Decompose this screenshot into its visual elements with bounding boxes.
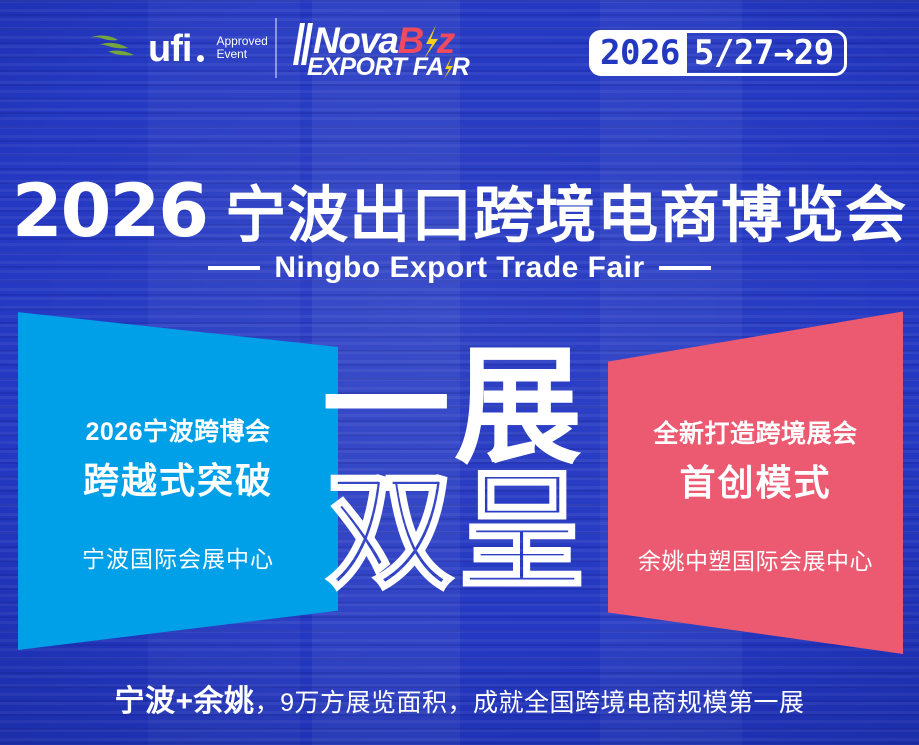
date-badge: 2026 5/27→29 <box>589 30 847 76</box>
title-english: Ningbo Export Trade Fair <box>274 251 644 285</box>
header-divider <box>275 18 277 78</box>
ufi-sub-line2: Event <box>216 47 247 61</box>
right-panel-line2: 首创模式 <box>608 454 903 506</box>
hero-slogan: 一展 双呈 <box>316 344 606 624</box>
main-title: 2026 宁波出口跨境电商博览会 <box>0 178 919 247</box>
title-chinese: 宁波出口跨境电商博览会 <box>225 184 907 246</box>
ufi-swoosh-icon <box>88 32 140 62</box>
novabiz-logo: NovaBz EXPORT FAR <box>293 21 478 83</box>
main-title-block: 2026 宁波出口跨境电商博览会 Ningbo Export Trade Fai… <box>0 178 919 285</box>
ufi-logo: ufi Approved Event <box>88 28 268 66</box>
ufi-wordmark: ufi <box>148 30 191 68</box>
header: ufi Approved Event NovaBz EXPORT FAR 202… <box>0 0 919 100</box>
rule-right <box>659 266 711 270</box>
ufi-approved-event: Approved Event <box>216 35 267 61</box>
poster-root: ufi Approved Event NovaBz EXPORT FAR 202… <box>0 0 919 745</box>
left-panel-line1: 2026宁波跨博会 <box>18 412 338 448</box>
footer-strong: 宁波+余姚 <box>115 685 255 718</box>
novabiz-wordmark-row2: EXPORT FAR <box>307 55 469 80</box>
novabiz-export-fa: EXPORT FA <box>307 53 444 81</box>
title-year: 2026 <box>12 178 207 247</box>
date-range: 5/27→29 <box>687 33 844 73</box>
venue-panel-yuyao: 全新打造跨境展会 首创模式 余姚中塑国际会展中心 <box>608 308 903 654</box>
hero-line-outline: 双呈 <box>326 469 590 597</box>
ufi-dot-icon <box>197 55 204 62</box>
rule-left <box>208 266 260 270</box>
date-year: 2026 <box>592 33 687 73</box>
right-panel-venue: 余姚中塑国际会展中心 <box>608 542 903 576</box>
venue-panel-ningbo: 2026宁波跨博会 跨越式突破 宁波国际会展中心 <box>18 308 338 650</box>
right-panel-line1: 全新打造跨境展会 <box>608 414 903 450</box>
hero-line-solid: 一展 <box>322 344 586 472</box>
left-panel-line2: 跨越式突破 <box>18 452 338 504</box>
left-panel-venue: 宁波国际会展中心 <box>18 540 338 574</box>
ufi-sub-line1: Approved <box>216 34 267 48</box>
footer-tagline: 宁波+余姚，9万方展览面积，成就全国跨境电商规模第一展 <box>0 676 919 720</box>
novabiz-r: R <box>452 53 470 81</box>
footer-normal: ，9万方展览面积，成就全国跨境电商规模第一展 <box>255 689 805 717</box>
subtitle-row: Ningbo Export Trade Fair <box>0 251 919 285</box>
